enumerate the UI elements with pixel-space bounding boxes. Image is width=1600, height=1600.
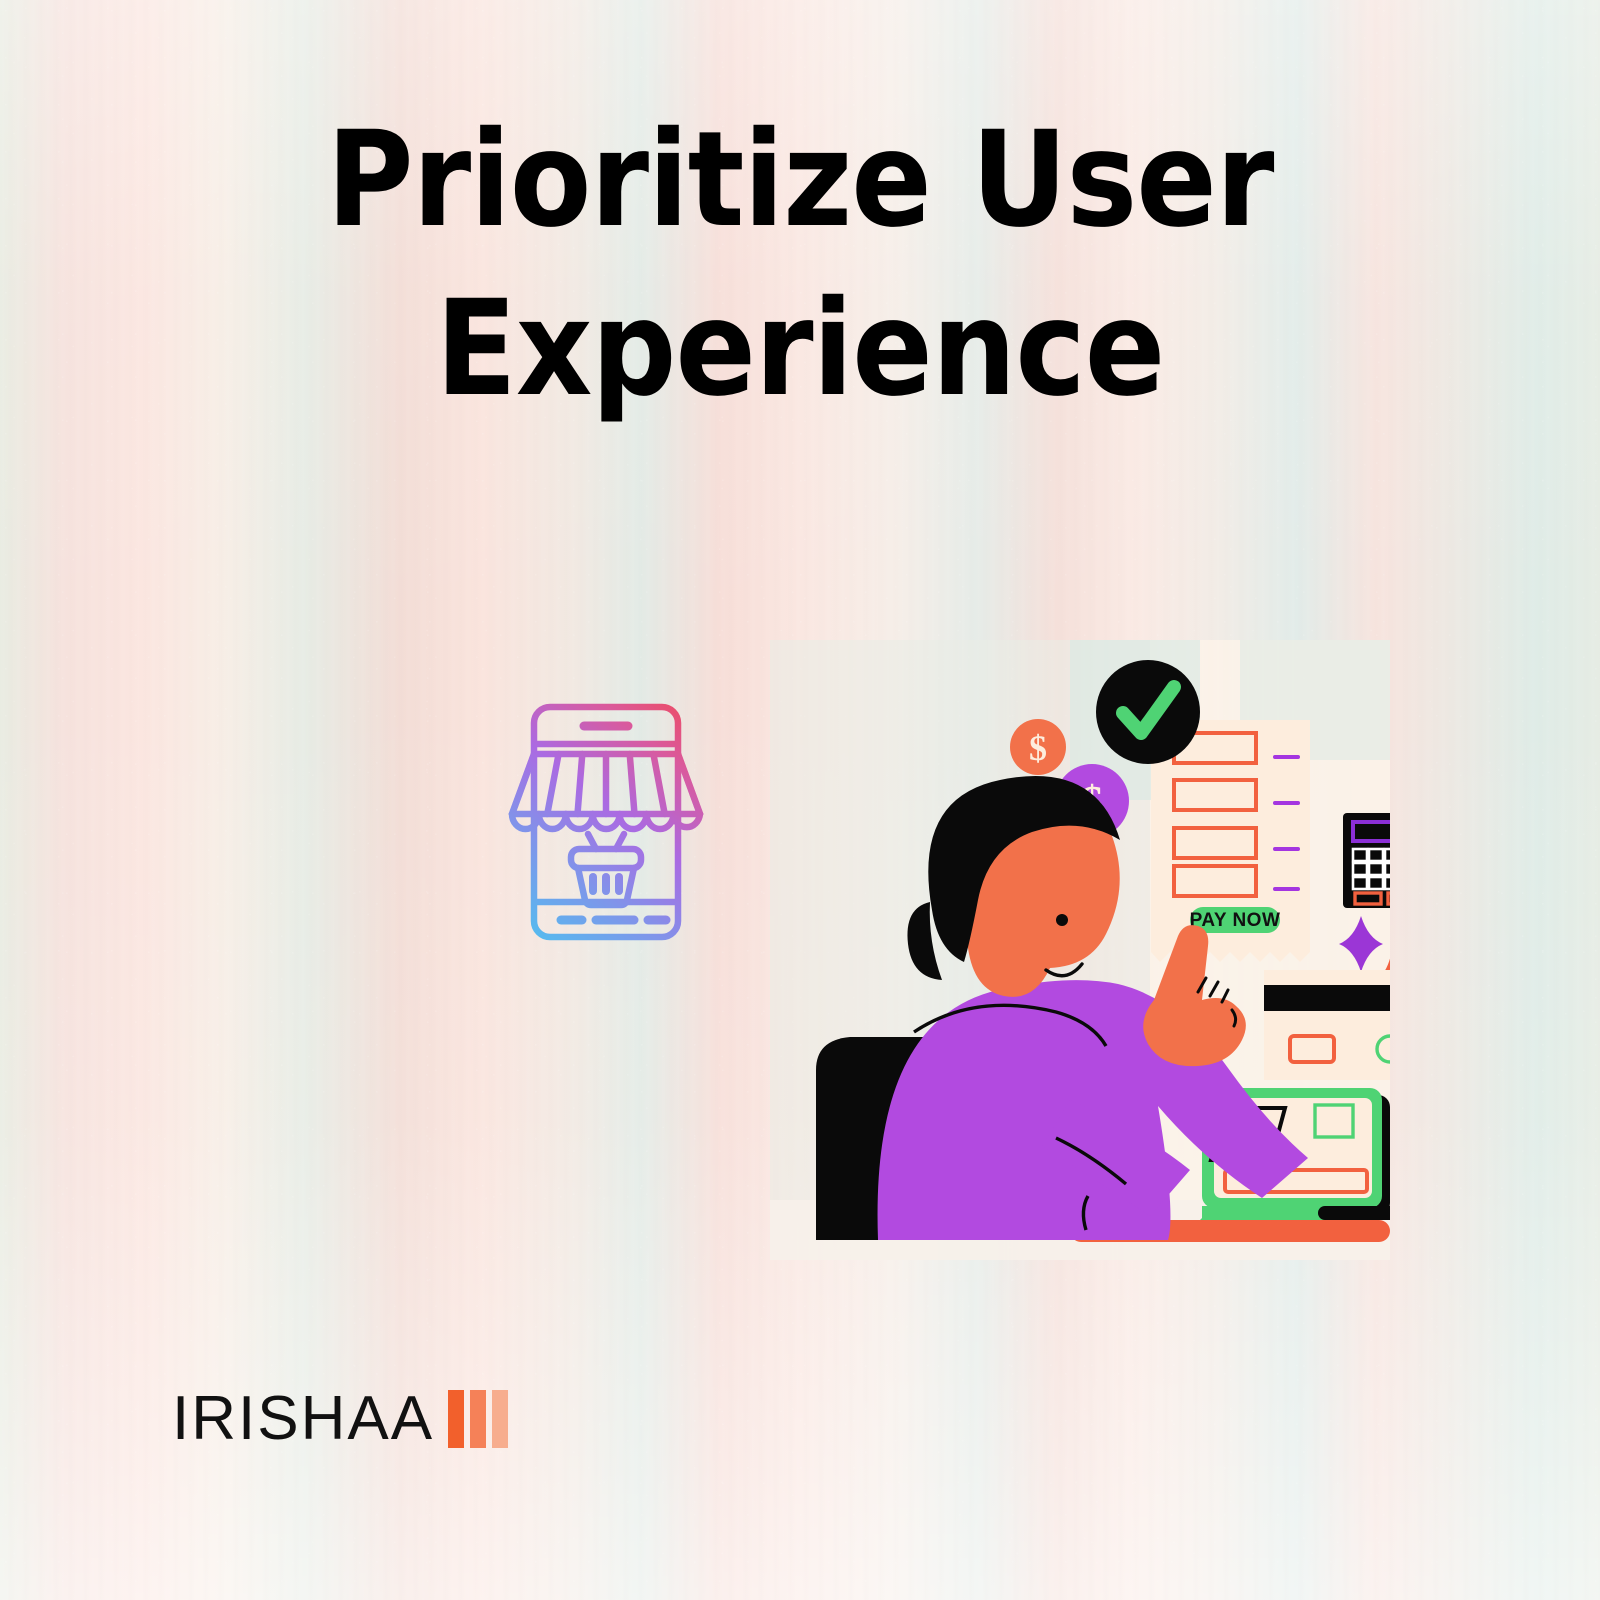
brand-bars	[448, 1390, 508, 1448]
brand-bar-1	[448, 1390, 464, 1448]
svg-text:PAY NOW: PAY NOW	[1190, 910, 1281, 931]
online-store-icon	[506, 697, 706, 952]
payment-success-check	[1096, 660, 1200, 764]
calculator	[1343, 813, 1390, 908]
brand-logo: IRISHAA	[172, 1383, 508, 1454]
brand-name: IRISHAA	[172, 1383, 434, 1454]
brand-bar-2	[470, 1390, 486, 1448]
poster-canvas: Prioritize User Experience	[0, 0, 1600, 1600]
page-title: Prioritize User Experience	[0, 96, 1600, 434]
brand-bar-3	[492, 1390, 508, 1448]
coin-orange: $	[1010, 719, 1066, 775]
online-payment-illustration: $ $	[770, 640, 1390, 1265]
credit-card	[1264, 970, 1390, 1080]
svg-text:$: $	[1029, 728, 1047, 768]
